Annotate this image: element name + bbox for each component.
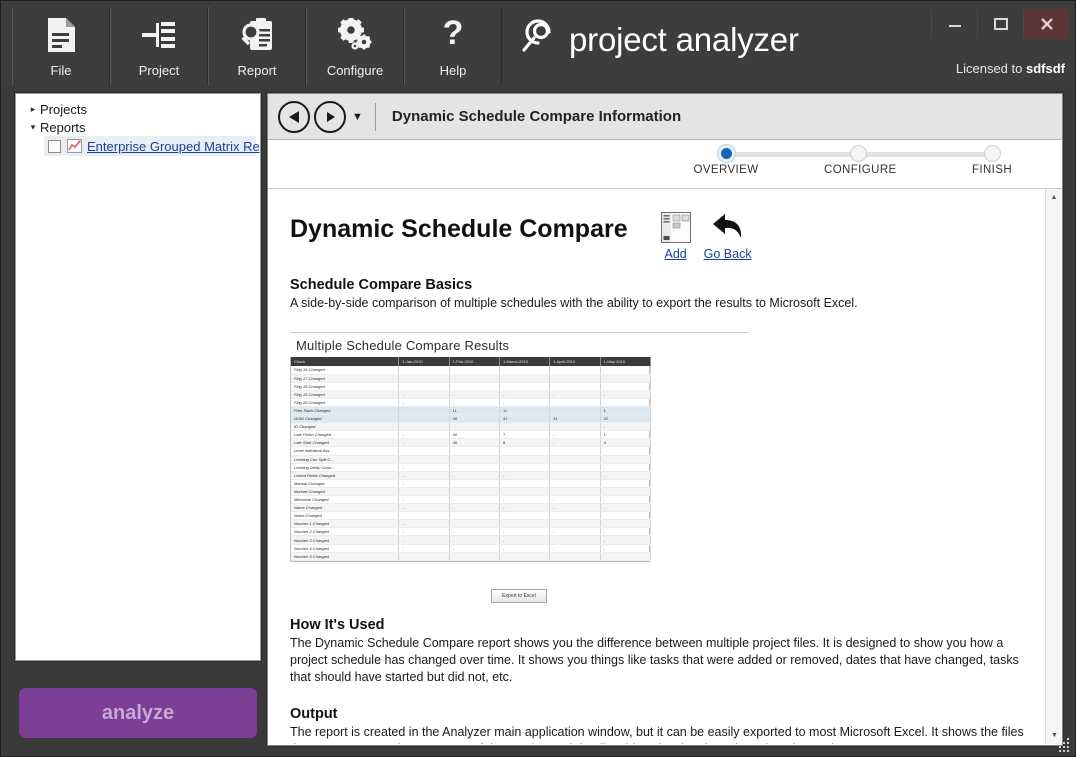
table-row: Milestone Changed-----	[291, 496, 651, 504]
table-row: Leveling Delay Chan...----	[291, 463, 651, 471]
question-icon: ?	[440, 7, 466, 63]
wizard-step-configure[interactable]: CONFIGURE	[824, 145, 892, 176]
resize-grip[interactable]	[1057, 738, 1071, 752]
chart-report-icon	[67, 139, 82, 153]
table-row: Flag 17 Changed	[291, 374, 651, 382]
preview-cell-value-2: 41	[500, 415, 550, 423]
preview-cell-value-1: 40	[449, 415, 499, 423]
toolbar-label-configure: Configure	[327, 63, 383, 79]
preview-cell-value-3: -	[550, 390, 600, 398]
preview-col-3: 1-March-2010	[500, 357, 550, 366]
preview-cell-value-2	[500, 487, 550, 495]
preview-cell-value-0: -	[399, 520, 449, 528]
back-button[interactable]	[278, 101, 310, 133]
section-body-basics: A side-by-side comparison of multiple sc…	[290, 295, 1034, 312]
preview-cell-value-3	[550, 479, 600, 487]
preview-cell-value-2	[500, 512, 550, 520]
preview-col-1: 1-Jan-2010	[399, 357, 449, 366]
preview-cell-value-2: -	[500, 398, 550, 406]
step-dot-overview[interactable]	[718, 145, 735, 162]
license-prefix: Licensed to	[956, 61, 1023, 76]
toolbar-button-help[interactable]: ? Help	[404, 7, 502, 85]
toolbar-button-project[interactable]: Project	[110, 7, 208, 85]
add-action[interactable]: Add	[650, 209, 702, 263]
preview-cell-value-0	[399, 382, 449, 390]
document-body: Dynamic Schedule Compare	[268, 189, 1062, 744]
preview-cell-check: Number 5 Changed	[291, 552, 399, 560]
preview-cell-value-4: -	[600, 423, 650, 431]
preview-cell-value-2: 11	[500, 406, 550, 414]
preview-cell-value-3	[550, 374, 600, 382]
preview-cell-value-0: -	[399, 463, 449, 471]
preview-cell-value-2	[500, 520, 550, 528]
step-dot-configure[interactable]	[850, 145, 867, 162]
preview-cell-value-3	[550, 512, 600, 520]
preview-cell-value-2: -	[500, 528, 550, 536]
preview-cell-value-2: -	[500, 471, 550, 479]
preview-cell-value-4	[600, 455, 650, 463]
section-body-output: The report is created in the Analyzer ma…	[290, 724, 1034, 744]
preview-cell-value-3	[550, 552, 600, 560]
preview-cell-value-4	[600, 366, 650, 374]
preview-cell-value-3	[550, 487, 600, 495]
minimize-button[interactable]	[931, 9, 977, 39]
preview-cell-value-4: 4	[600, 439, 650, 447]
preview-cell-value-2	[500, 366, 550, 374]
preview-cell-value-3	[550, 455, 600, 463]
preview-cell-check: Late Start Changed	[291, 439, 399, 447]
preview-cell-value-0	[399, 423, 449, 431]
preview-cell-value-0	[399, 487, 449, 495]
preview-cell-value-1: -	[449, 471, 499, 479]
preview-cell-value-2: -	[500, 504, 550, 512]
preview-cell-value-0: -	[399, 504, 449, 512]
export-row: Export to Excel	[290, 584, 748, 603]
preview-cell-value-0: -	[399, 398, 449, 406]
preview-cell-value-3: -	[550, 528, 600, 536]
preview-cell-value-4: -	[600, 536, 650, 544]
preview-cell-value-0: -	[399, 496, 449, 504]
preview-cell-check: Leveling Can Split C...	[291, 455, 399, 463]
preview-cell-value-4	[600, 512, 650, 520]
report-link-label[interactable]: Enterprise Grouped Matrix Report	[87, 139, 261, 154]
table-row: Number 1 Changed-	[291, 520, 651, 528]
table-row: Marked Changed	[291, 487, 651, 495]
toolbar-button-configure[interactable]: Configure	[306, 7, 404, 85]
preview-cell-value-1	[449, 423, 499, 431]
preview-cell-value-4: -	[600, 496, 650, 504]
preview-cell-value-3: -	[550, 544, 600, 552]
preview-cell-value-1: -	[449, 398, 499, 406]
file-icon	[46, 7, 76, 63]
preview-cell-value-4: 42	[600, 415, 650, 423]
toolbar-label-report: Report	[237, 63, 276, 79]
tree-node-projects-label: Projects	[40, 102, 87, 117]
preview-cell-check: Flag 20 Changed	[291, 398, 399, 406]
preview-cell-value-3	[550, 536, 600, 544]
preview-cell-value-1	[449, 512, 499, 520]
preview-cell-value-4: -	[600, 528, 650, 536]
preview-cell-value-0: -	[399, 471, 449, 479]
preview-cell-check: Number 4 Changed	[291, 544, 399, 552]
preview-cell-value-2: 7	[500, 431, 550, 439]
table-row: Leveling Can Split C...	[291, 455, 651, 463]
preview-cell-value-1: 40	[449, 431, 499, 439]
wizard-step-indicator: OVERVIEW CONFIGURE FINISH	[268, 140, 1062, 189]
document-title: Dynamic Schedule Compare	[290, 207, 628, 251]
preview-cell-value-2: -	[500, 544, 550, 552]
preview-cell-check: Number 3 Changed	[291, 536, 399, 544]
table-row: Free Slack Changed11111	[291, 406, 651, 414]
preview-cell-check: Flag 18 Changed	[291, 382, 399, 390]
analyze-button[interactable]: analyze	[19, 688, 257, 738]
preview-cell-value-0	[399, 455, 449, 463]
preview-cell-check: Manual Changed	[291, 479, 399, 487]
preview-cell-check: Flag 16 Changed	[291, 366, 399, 374]
preview-cell-value-0: -	[399, 479, 449, 487]
gear-icon	[337, 7, 373, 63]
preview-cell-value-3	[550, 382, 600, 390]
preview-cell-value-2	[500, 423, 550, 431]
preview-cell-value-2	[500, 382, 550, 390]
preview-cell-value-4	[600, 487, 650, 495]
preview-table-frame: Check1-Jan-20101-Feb-20101-March-20101-A…	[290, 357, 650, 562]
preview-cell-value-0	[399, 447, 449, 455]
preview-cell-value-3	[550, 471, 600, 479]
preview-cell-value-1: 11	[449, 406, 499, 414]
preview-cell-value-0: -	[399, 390, 449, 398]
preview-cell-value-4: -	[600, 390, 650, 398]
preview-cell-value-2	[500, 447, 550, 455]
table-header-row: Check1-Jan-20101-Feb-20101-March-20101-A…	[291, 357, 651, 366]
wizard-step-finish[interactable]: FINISH	[958, 145, 1026, 176]
tree-view: ▸ Projects ▾ Reports Enterprise Grouped …	[16, 94, 260, 162]
preview-cell-value-1	[449, 447, 499, 455]
add-report-icon	[650, 209, 702, 245]
report-preview-image: Multiple Schedule Compare Results Check1…	[290, 332, 748, 562]
maximize-button[interactable]	[977, 9, 1023, 39]
preview-cell-check: Notes Changed	[291, 512, 399, 520]
brand-logo: project analyzer	[519, 17, 799, 62]
preview-cell-value-4	[600, 520, 650, 528]
close-button[interactable]	[1023, 9, 1069, 39]
project-icon	[142, 7, 176, 63]
preview-cell-check: ID Changed	[291, 423, 399, 431]
wizard-step-overview[interactable]: OVERVIEW	[692, 145, 760, 176]
preview-cell-value-4: -	[600, 463, 650, 471]
preview-cell-check: Free Slack Changed	[291, 406, 399, 414]
preview-cell-value-0: -	[399, 431, 449, 439]
preview-cell-value-2	[500, 479, 550, 487]
table-row: Number 5 Changed	[291, 552, 651, 560]
preview-cell-value-1: -	[449, 496, 499, 504]
preview-table-body: Flag 16 ChangedFlag 17 ChangedFlag 18 Ch…	[291, 366, 651, 560]
brand-title: project analyzer	[569, 21, 799, 59]
preview-cell-value-2	[500, 455, 550, 463]
toolbar-label-help: Help	[440, 63, 467, 79]
step-label-finish: FINISH	[958, 164, 1026, 176]
add-link[interactable]: Add	[665, 247, 687, 261]
preview-col-5: 1-May-2010	[600, 357, 650, 366]
table-row: GUID Changed40414142	[291, 415, 651, 423]
preview-cell-value-0	[399, 366, 449, 374]
title-bar: File Project	[1, 1, 1076, 87]
step-dot-finish[interactable]	[984, 145, 1001, 162]
preview-cell-value-1: -	[449, 390, 499, 398]
preview-cell-value-3	[550, 447, 600, 455]
preview-cell-check: Flag 17 Changed	[291, 374, 399, 382]
preview-cell-check: Number 1 Changed	[291, 520, 399, 528]
preview-col-4: 1-April-2010	[550, 357, 600, 366]
application-window: File Project	[0, 0, 1076, 757]
scroll-up-arrow-icon[interactable]: ▲	[1046, 189, 1062, 206]
step-label-overview: OVERVIEW	[692, 164, 760, 176]
preview-cell-check: Milestone Changed	[291, 496, 399, 504]
preview-cell-value-3: -	[550, 431, 600, 439]
vertical-scrollbar[interactable]: ▲ ▼	[1045, 189, 1062, 744]
preview-table: Check1-Jan-20101-Feb-20101-March-20101-A…	[291, 357, 651, 561]
window-controls	[931, 9, 1069, 39]
preview-cell-check: Late Finish Changed	[291, 431, 399, 439]
preview-cell-value-4	[600, 552, 650, 560]
preview-cell-value-3	[550, 463, 600, 471]
preview-cell-value-0	[399, 512, 449, 520]
license-status: Licensed to sdfsdf	[956, 61, 1065, 76]
table-row: Flag 16 Changed	[291, 366, 651, 374]
preview-cell-value-4	[600, 382, 650, 390]
preview-cell-value-1: 40	[449, 439, 499, 447]
preview-cell-value-1	[449, 479, 499, 487]
navigation-tree-panel: ▸ Projects ▾ Reports Enterprise Grouped …	[15, 93, 261, 661]
tree-node-reports[interactable]: ▾ Reports	[20, 118, 256, 136]
preview-col-2: 1-Feb-2010	[449, 357, 499, 366]
preview-cell-value-1	[449, 552, 499, 560]
preview-cell-value-0	[399, 406, 449, 414]
table-row: Level Individual Ass...	[291, 447, 651, 455]
wizard-navigation-bar: ▼ Dynamic Schedule Compare Information	[268, 94, 1062, 140]
table-row: Manual Changed-	[291, 479, 651, 487]
chevron-down-icon[interactable]: ▾	[26, 122, 40, 133]
table-row: Number 2 Changed-----	[291, 528, 651, 536]
page-title: Dynamic Schedule Compare Information	[392, 108, 681, 125]
preview-col-0: Check	[291, 357, 399, 366]
go-back-action[interactable]: Go Back	[702, 209, 754, 263]
preview-cell-value-1: -	[449, 504, 499, 512]
preview-cell-value-0	[399, 374, 449, 382]
preview-cell-check: Linked Fields Changed	[291, 471, 399, 479]
preview-cell-value-0	[399, 415, 449, 423]
preview-cell-value-1	[449, 382, 499, 390]
preview-cell-value-3	[550, 520, 600, 528]
preview-cell-value-2: 8	[500, 439, 550, 447]
preview-table-head: Check1-Jan-20101-Feb-20101-March-20101-A…	[291, 357, 651, 366]
tree-node-projects[interactable]: ▸ Projects	[20, 100, 256, 118]
document-scroll-area: Dynamic Schedule Compare	[268, 189, 1062, 744]
export-to-excel-button[interactable]: Export to Excel	[491, 589, 547, 603]
toolbar-button-file[interactable]: File	[12, 7, 110, 85]
table-row: Late Finish Changed-407-1	[291, 431, 651, 439]
list-item-enterprise-grouped-matrix-report[interactable]: Enterprise Grouped Matrix Report	[44, 136, 256, 156]
preview-cell-value-2: -	[500, 536, 550, 544]
preview-cell-value-1	[449, 374, 499, 382]
preview-cell-value-4	[600, 374, 650, 382]
preview-cell-value-3	[550, 406, 600, 414]
preview-cell-value-2: -	[500, 390, 550, 398]
table-row: Number 3 Changed----	[291, 536, 651, 544]
toolbar-button-report[interactable]: Report	[208, 7, 306, 85]
section-heading-how-its-used: How It's Used	[290, 617, 1034, 633]
chevron-down-icon[interactable]: ▼	[352, 111, 363, 123]
main-content-panel: ▼ Dynamic Schedule Compare Information O…	[267, 93, 1063, 746]
forward-button[interactable]	[314, 101, 346, 133]
table-row: Name Changed-----	[291, 504, 651, 512]
table-row: Notes Changed	[291, 512, 651, 520]
preview-cell-value-2: -	[500, 496, 550, 504]
toolbar-label-project: Project	[139, 63, 179, 79]
report-icon	[240, 7, 274, 63]
preview-cell-value-4: -	[600, 544, 650, 552]
table-row: ID Changed-	[291, 423, 651, 431]
preview-cell-value-3: -	[550, 504, 600, 512]
preview-cell-value-0: -	[399, 439, 449, 447]
table-row: Number 4 Changed-----	[291, 544, 651, 552]
divider	[375, 103, 376, 131]
magnifier-logo-icon	[519, 17, 557, 62]
report-checkbox[interactable]	[48, 140, 61, 153]
preview-cell-value-1: -	[449, 544, 499, 552]
preview-cell-value-3	[550, 366, 600, 374]
preview-cell-check: GUID Changed	[291, 415, 399, 423]
step-label-configure: CONFIGURE	[824, 164, 892, 176]
preview-cell-value-1	[449, 487, 499, 495]
table-row: Flag 19 Changed-----	[291, 390, 651, 398]
preview-cell-value-4: -	[600, 398, 650, 406]
preview-cell-value-3: -	[550, 496, 600, 504]
preview-cell-value-2: -	[500, 463, 550, 471]
preview-cell-value-0: -	[399, 536, 449, 544]
document-header: Dynamic Schedule Compare	[290, 207, 1034, 263]
preview-cell-value-4: -	[600, 504, 650, 512]
preview-cell-value-0: -	[399, 544, 449, 552]
preview-cell-value-4: 1	[600, 431, 650, 439]
preview-cell-value-1: -	[449, 463, 499, 471]
svg-text:?: ?	[443, 17, 464, 52]
back-arrow-icon	[702, 209, 754, 245]
preview-cell-value-1	[449, 366, 499, 374]
table-row: Flag 18 Changed	[291, 382, 651, 390]
preview-caption: Multiple Schedule Compare Results	[290, 333, 748, 357]
main-toolbar: File Project	[12, 7, 502, 85]
preview-cell-value-3	[550, 398, 600, 406]
table-row: Late Start Changed-408-4	[291, 439, 651, 447]
preview-cell-value-4	[600, 447, 650, 455]
table-row: Flag 20 Changed----	[291, 398, 651, 406]
preview-cell-value-3: -	[550, 439, 600, 447]
preview-cell-value-3: 41	[550, 415, 600, 423]
preview-cell-value-1: -	[449, 536, 499, 544]
preview-cell-value-0	[399, 552, 449, 560]
preview-cell-value-4	[600, 479, 650, 487]
chevron-right-icon[interactable]: ▸	[26, 104, 40, 115]
preview-cell-check: Level Individual Ass...	[291, 447, 399, 455]
preview-cell-value-3	[550, 423, 600, 431]
section-heading-output: Output	[290, 706, 1034, 722]
go-back-link[interactable]: Go Back	[704, 247, 752, 261]
preview-cell-value-1	[449, 520, 499, 528]
preview-cell-value-1: -	[449, 528, 499, 536]
table-row: Linked Fields Changed----	[291, 471, 651, 479]
preview-cell-value-1	[449, 455, 499, 463]
preview-cell-check: Flag 19 Changed	[291, 390, 399, 398]
preview-cell-value-4: -	[600, 471, 650, 479]
preview-cell-check: Number 2 Changed	[291, 528, 399, 536]
section-heading-basics: Schedule Compare Basics	[290, 277, 1034, 293]
section-body-how-its-used: The Dynamic Schedule Compare report show…	[290, 635, 1034, 686]
toolbar-label-file: File	[51, 63, 72, 79]
preview-cell-value-2	[500, 374, 550, 382]
tree-node-reports-label: Reports	[40, 120, 86, 135]
preview-cell-value-4: 1	[600, 406, 650, 414]
license-owner: sdfsdf	[1026, 61, 1065, 76]
preview-cell-check: Leveling Delay Chan...	[291, 463, 399, 471]
preview-cell-value-0: -	[399, 528, 449, 536]
preview-cell-check: Name Changed	[291, 504, 399, 512]
preview-cell-check: Marked Changed	[291, 487, 399, 495]
preview-cell-value-2	[500, 552, 550, 560]
